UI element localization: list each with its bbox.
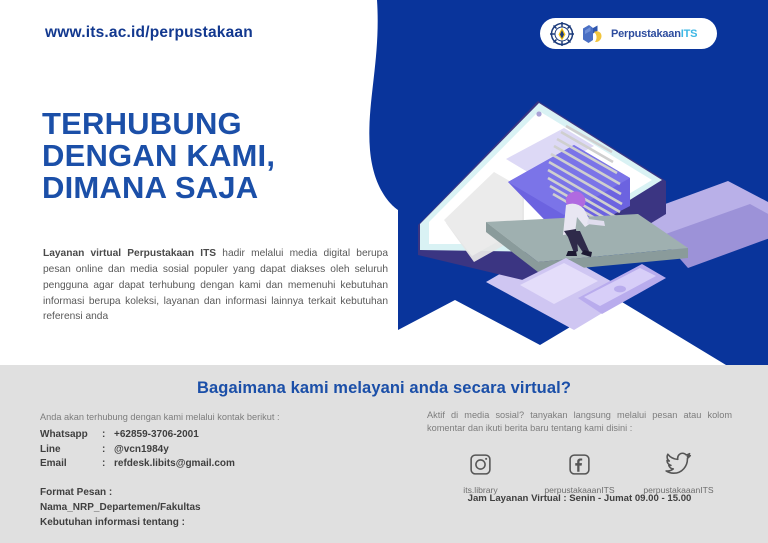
social-column: Aktif di media sosial? tanyakan langsung…: [427, 409, 732, 495]
contact-colon-line: :: [102, 443, 114, 458]
facebook-icon[interactable]: [567, 452, 592, 478]
footer-section: Bagaimana kami melayani anda secara virt…: [0, 365, 768, 543]
contact-colon-email: :: [102, 457, 114, 472]
logo-brand-suffix: ITS: [681, 28, 698, 40]
contact-value-whatsapp[interactable]: +62859-3706-2001: [114, 428, 370, 443]
message-format-line-2: Kebutuhan informasi tentang :: [40, 515, 370, 530]
perpustakaan-book-icon: [582, 24, 604, 44]
message-format-block: Format Pesan : Nama_NRP_Departemen/Fakul…: [40, 485, 370, 530]
social-item-facebook[interactable]: perpustakaaanITS: [530, 452, 629, 495]
lead-bold-lead-in: Layanan virtual Perpustakaan ITS: [43, 248, 216, 259]
lead-body-text: hadir melalui media digital berupa pesan…: [43, 248, 388, 322]
footer-title: Bagaimana kami melayani anda secara virt…: [0, 379, 768, 398]
social-item-instagram[interactable]: its.library: [431, 452, 530, 495]
hero-lead-paragraph: Layanan virtual Perpustakaan ITS hadir m…: [43, 246, 388, 325]
contact-row-email: Email : refdesk.libits@gmail.com: [40, 457, 370, 472]
logo-brand-primary: Perpustakaan: [611, 28, 681, 40]
social-list: its.library perpustakaaanITS: [427, 452, 732, 495]
headline-line-1: TERHUBUNG: [42, 108, 372, 140]
contact-label-whatsapp: Whatsapp: [40, 428, 102, 443]
twitter-icon[interactable]: [665, 452, 692, 478]
logo-brand-text: PerpustakaanITS: [611, 28, 697, 40]
contact-value-line[interactable]: @vcn1984y: [114, 443, 370, 458]
headline-line-2: DENGAN KAMI,: [42, 140, 372, 172]
isometric-person-entering-monitor-illustration: [398, 86, 768, 331]
its-crest-icon: [549, 21, 575, 47]
contact-value-email[interactable]: refdesk.libits@gmail.com: [114, 457, 370, 472]
poster-canvas: www.its.ac.id/perpustakaan: [0, 0, 768, 543]
contact-row-line: Line : @vcn1984y: [40, 443, 370, 458]
service-hours: Jam Layanan Virtual : Senin - Jumat 09.0…: [427, 493, 732, 504]
contact-colon-whatsapp: :: [102, 428, 114, 443]
social-item-twitter[interactable]: perpustakaaanITS: [629, 452, 728, 495]
message-format-line-1: Nama_NRP_Departemen/Fakultas: [40, 500, 370, 515]
contact-intro: Anda akan terhubung dengan kami melalui …: [40, 412, 370, 422]
contact-row-whatsapp: Whatsapp : +62859-3706-2001: [40, 428, 370, 443]
logo-pill: PerpustakaanITS: [540, 18, 717, 49]
social-intro: Aktif di media sosial? tanyakan langsung…: [427, 409, 732, 436]
contact-column: Anda akan terhubung dengan kami melalui …: [40, 412, 370, 530]
site-url[interactable]: www.its.ac.id/perpustakaan: [45, 24, 253, 42]
contact-label-line: Line: [40, 443, 102, 458]
hero-headline: TERHUBUNG DENGAN KAMI, DIMANA SAJA: [42, 108, 372, 205]
message-format-title: Format Pesan :: [40, 485, 370, 500]
headline-line-3: DIMANA SAJA: [42, 172, 372, 204]
instagram-icon[interactable]: [468, 452, 493, 478]
contact-label-email: Email: [40, 457, 102, 472]
hero-section: www.its.ac.id/perpustakaan: [0, 0, 768, 365]
